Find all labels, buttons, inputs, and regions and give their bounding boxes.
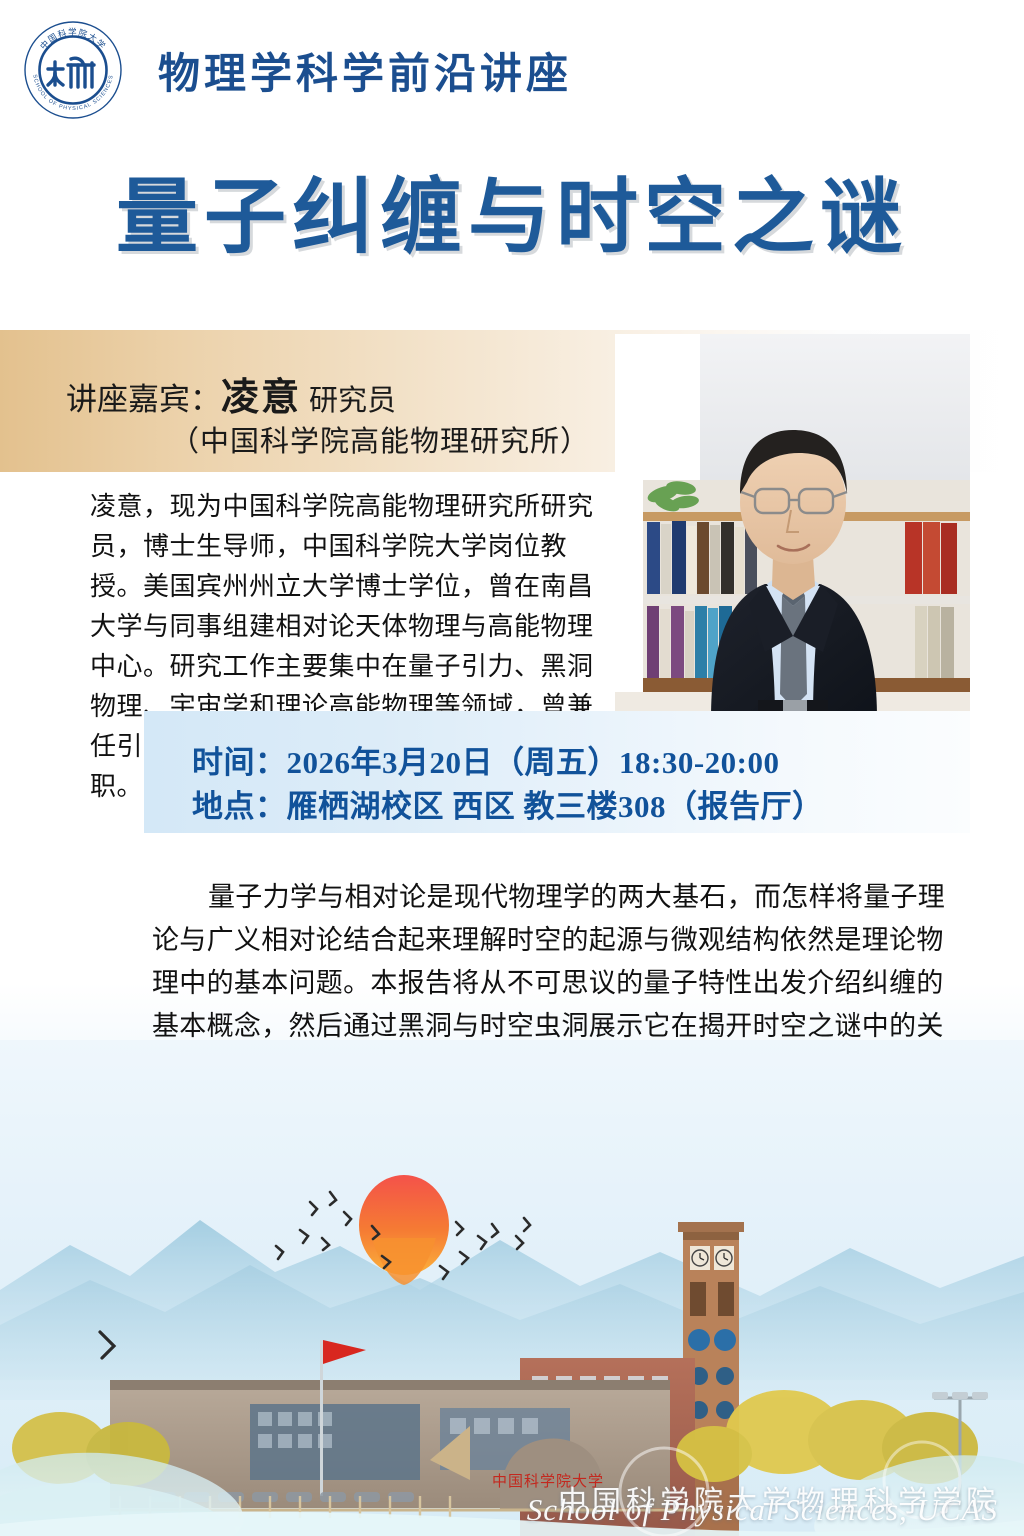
speaker-name: 凌意 xyxy=(221,377,301,419)
speaker-portrait xyxy=(615,334,970,719)
event-info-box: 时间：2026年3月20日（周五）18:30-20:00 地点：雁栖湖校区 西区… xyxy=(144,711,970,833)
speaker-affiliation: （中国科学院高能物理研究所） xyxy=(170,418,590,460)
svg-text:中国科学院大学: 中国科学院大学 xyxy=(38,27,108,51)
poster-header: 中国科学院大学 SCHOOL OF PHYSICAL SCIENCES xyxy=(0,0,1024,140)
svg-text:SCHOOL OF PHYSICAL SCIENCES: SCHOOL OF PHYSICAL SCIENCES xyxy=(31,74,114,112)
event-time: 时间：2026年3月20日（周五）18:30-20:00 xyxy=(192,737,779,782)
school-seal-icon: 中国科学院大学 SCHOOL OF PHYSICAL SCIENCES xyxy=(22,19,124,121)
event-location: 地点：雁栖湖校区 西区 教三楼308（报告厅） xyxy=(192,781,824,826)
speaker-line: 讲座嘉宾：凌意研究员 xyxy=(66,366,396,421)
series-title: 物理学科学前沿讲座 xyxy=(158,40,572,101)
speaker-label: 讲座嘉宾： xyxy=(66,382,221,417)
poster-root: 中国科学院大学 SCHOOL OF PHYSICAL SCIENCES xyxy=(0,0,1024,1536)
footer-en: School of Physical Sciences, UCAS xyxy=(0,1492,1024,1528)
speaker-rank: 研究员 xyxy=(309,385,396,417)
page-title: 量子纠缠与时空之谜 xyxy=(0,150,1024,269)
campus-scene: 中国科学院大学 xyxy=(0,1040,1024,1536)
